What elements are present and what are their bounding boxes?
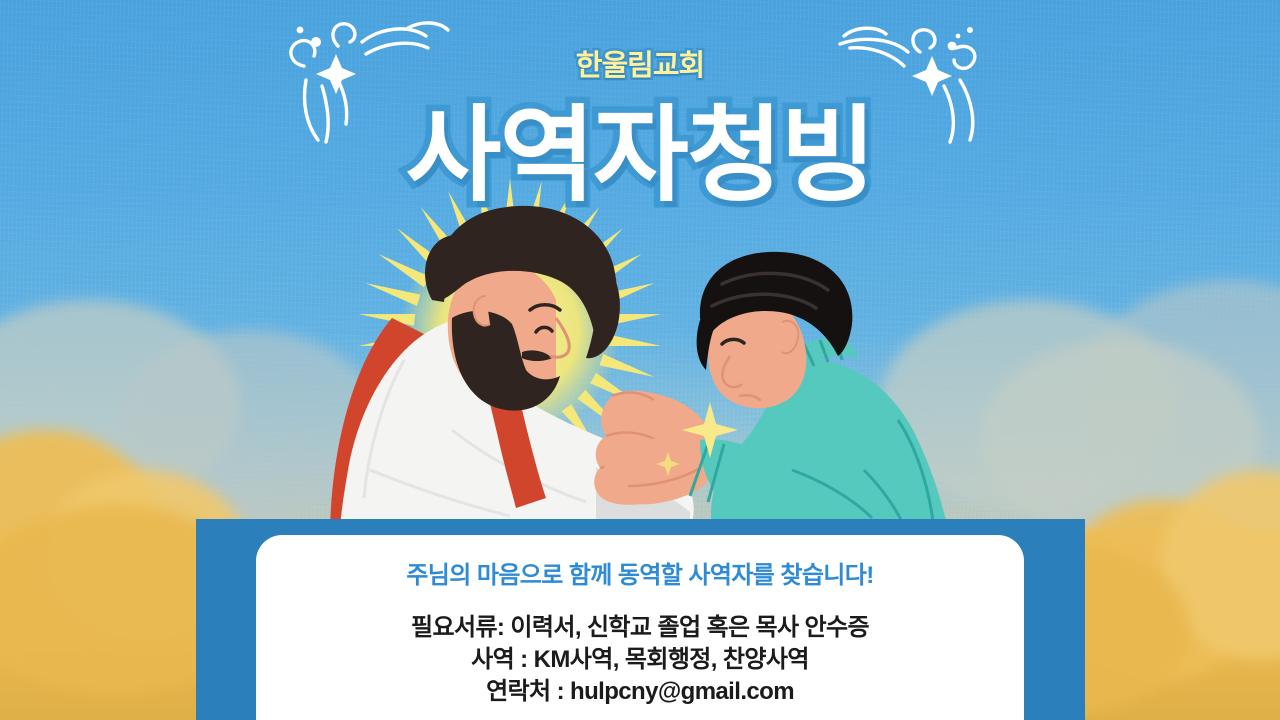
page-title: 사역자청빙 [0, 104, 1280, 208]
detail-line-ministry: 사역 : KM사역, 목회행정, 찬양사역 [256, 644, 1024, 676]
church-name: 한울림교회 [0, 42, 1280, 84]
detail-line-contact[interactable]: 연락처 : hulpcny@gmail.com [256, 676, 1024, 708]
praying-man-figure [697, 252, 948, 530]
banner-details: 필요서류: 이력서, 신학교 졸업 혹은 목사 안수증 사역 : KM사역, 목… [256, 612, 1024, 708]
detail-line-documents: 필요서류: 이력서, 신학교 졸업 혹은 목사 안수증 [256, 612, 1024, 644]
poster-canvas: 한울림교회 사역자청빙 주님의 마음으로 함께 동역할 사역자를 찾습니다! 필… [0, 0, 1280, 720]
banner-headline: 주님의 마음으로 함께 동역할 사역자를 찾습니다! [256, 555, 1024, 590]
bottom-banner-card: 주님의 마음으로 함께 동역할 사역자를 찾습니다! 필요서류: 이력서, 신학… [256, 535, 1024, 720]
